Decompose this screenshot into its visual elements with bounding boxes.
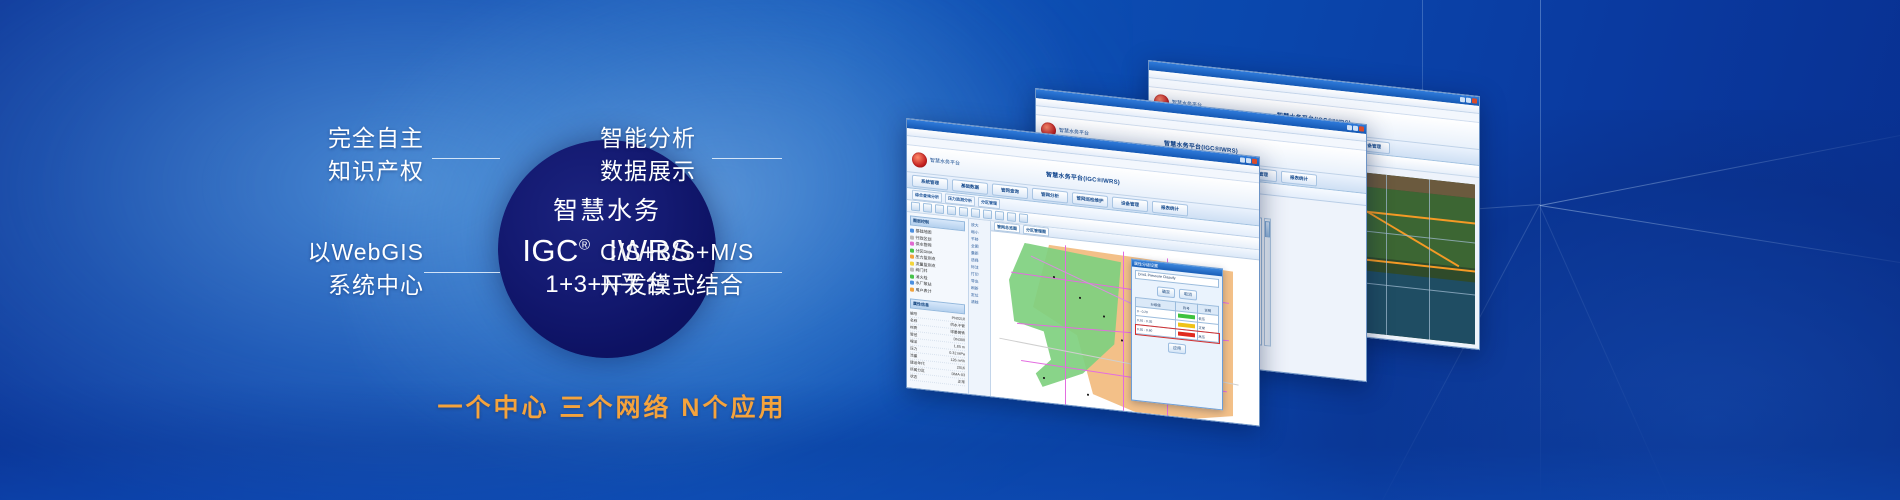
zoom-out-icon[interactable] — [923, 203, 932, 213]
connector-top-left — [432, 158, 500, 159]
node-9[interactable] — [1087, 394, 1089, 396]
nav-item-4[interactable]: 管网巡检维护 — [1072, 192, 1108, 208]
pipeline-v1 — [1065, 245, 1066, 409]
zoom-in-icon[interactable] — [911, 202, 920, 212]
minimize-icon[interactable] — [1240, 157, 1245, 163]
close-icon[interactable] — [1472, 98, 1477, 104]
dialog-body: Dmt1 Pressure Classify 确定 取消 分级值 符号 说明 — [1132, 267, 1222, 362]
banner-stage: 智慧水务 IGC® IWRS 1+3+N平台 完全自主 知识产权 以WebGIS… — [0, 0, 1900, 500]
feature-top-left-line2: 知识产权 — [296, 155, 424, 188]
sat-street-6 — [1429, 180, 1430, 340]
connector-top-right — [712, 158, 782, 159]
minimize-icon[interactable] — [1460, 97, 1465, 103]
feature-bottom-left: 以WebGIS 系统中心 — [282, 236, 424, 301]
refresh-icon[interactable] — [1019, 213, 1028, 223]
app-logo-icon — [912, 151, 927, 168]
feature-top-left-line1: 完全自主 — [328, 125, 424, 151]
brand-text: 智慧水务平台 — [930, 157, 960, 167]
print-icon[interactable] — [995, 211, 1004, 221]
maximize-icon[interactable] — [1353, 126, 1358, 132]
nav-item-6[interactable]: 报表统计 — [1152, 200, 1188, 216]
feature-top-right-line1: 智能分析 — [600, 125, 696, 151]
node-2[interactable] — [1103, 315, 1105, 317]
feature-top-right: 智能分析 数据展示 — [600, 122, 696, 187]
window-title-gis: 智慧水务平台(IGC®IWRS) — [1046, 169, 1120, 186]
feature-bottom-right: C/S+B/S+M/S 开发模式结合 — [600, 236, 754, 301]
node-1[interactable] — [1079, 297, 1081, 299]
scrollbar-thumb[interactable] — [1265, 221, 1270, 238]
layers-pane[interactable]: 图层控制 基础地图 行政区划 供水管网 分区DMA 压力监测点 流量监测点 阀门… — [907, 212, 969, 411]
node-0[interactable] — [1053, 276, 1055, 278]
feature-top-right-line2: 数据展示 — [600, 155, 696, 188]
map-tab-1[interactable]: 分区管理图 — [1023, 225, 1049, 237]
hub-code-main: IGC — [522, 233, 579, 268]
dialog-classify-table: 分级值 符号 说明 0 - 0.20 低压 0.20 - 0.35 — [1135, 297, 1219, 343]
dialog-ok-button[interactable]: 确定 — [1157, 286, 1175, 298]
attributes-table: 编号PN0218 名称供水干管 材质球墨铸铁 管径DN300 埋深1.85 m … — [910, 310, 965, 386]
feature-bottom-left-line1: 以WebGIS — [308, 239, 425, 265]
minimize-icon[interactable] — [1347, 125, 1352, 131]
pan-icon[interactable] — [935, 204, 944, 214]
nav-item-5[interactable]: 设备管理 — [1112, 196, 1148, 212]
node-3[interactable] — [1121, 339, 1123, 341]
nav-item-6[interactable]: 报表统计 — [1281, 170, 1317, 186]
hub-title: 智慧水务 — [553, 198, 661, 226]
feature-bottom-right-line2: 开发模式结合 — [600, 269, 754, 302]
select-icon[interactable] — [971, 208, 980, 218]
export-icon[interactable] — [1007, 212, 1016, 222]
swatch-red — [1176, 329, 1197, 340]
tools-pane[interactable]: 放大 缩小 平移 全图 量距 选择 标注 打印 导出 刷新 定位 清除 — [969, 219, 991, 413]
nav-item-2[interactable]: 管网查询 — [992, 183, 1028, 199]
map-tab-0[interactable]: 管网总览图 — [994, 222, 1020, 234]
layer-tree[interactable]: 基础地图 行政区划 供水管网 分区DMA 压力监测点 流量监测点 阀门井 消火栓… — [910, 227, 965, 298]
nav-item-1[interactable]: 基础数据 — [952, 178, 988, 194]
pipeline-v2 — [1123, 252, 1124, 420]
sub-item-2[interactable]: 分区管理 — [978, 196, 1000, 208]
nav-item-3[interactable]: 管网分析 — [1032, 187, 1068, 203]
node-8[interactable] — [1043, 377, 1045, 379]
fullextent-icon[interactable] — [947, 205, 956, 215]
nav-item-0[interactable]: 系统管理 — [912, 174, 948, 190]
dialog-apply-button[interactable]: 应用 — [1168, 342, 1186, 354]
map-scrollbar[interactable] — [1264, 218, 1271, 347]
perspective-line-vertical — [1540, 0, 1541, 500]
tool-11[interactable]: 清除 — [971, 299, 988, 308]
tagline: 一个中心 三个网络 N个应用 — [362, 388, 862, 424]
label-icon[interactable] — [983, 209, 992, 219]
gis-map-canvas[interactable]: 管网总览图 分区管理图 — [991, 221, 1259, 426]
connector-bottom-left — [424, 272, 500, 273]
maximize-icon[interactable] — [1466, 98, 1471, 104]
classify-dialog[interactable]: 属性分级设置 Dmt1 Pressure Classify 确定 取消 分级值 … — [1131, 258, 1223, 410]
feature-top-left: 完全自主 知识产权 — [296, 122, 424, 187]
maximize-icon[interactable] — [1246, 158, 1251, 164]
registered-icon: ® — [579, 236, 591, 253]
dialog-cancel-button[interactable]: 取消 — [1179, 289, 1197, 301]
app-window-gis[interactable]: 智慧水务平台 智慧水务平台(IGC®IWRS) 系统管理 基础数据 管网查询 管… — [906, 118, 1260, 426]
background-floor — [0, 380, 1900, 500]
sat-street-5 — [1386, 175, 1387, 335]
measure-icon[interactable] — [959, 207, 968, 217]
close-icon[interactable] — [1252, 159, 1257, 165]
close-icon[interactable] — [1359, 126, 1364, 132]
feature-bottom-left-line2: 系统中心 — [282, 269, 424, 302]
feature-bottom-right-line1: C/S+B/S+M/S — [600, 239, 754, 265]
